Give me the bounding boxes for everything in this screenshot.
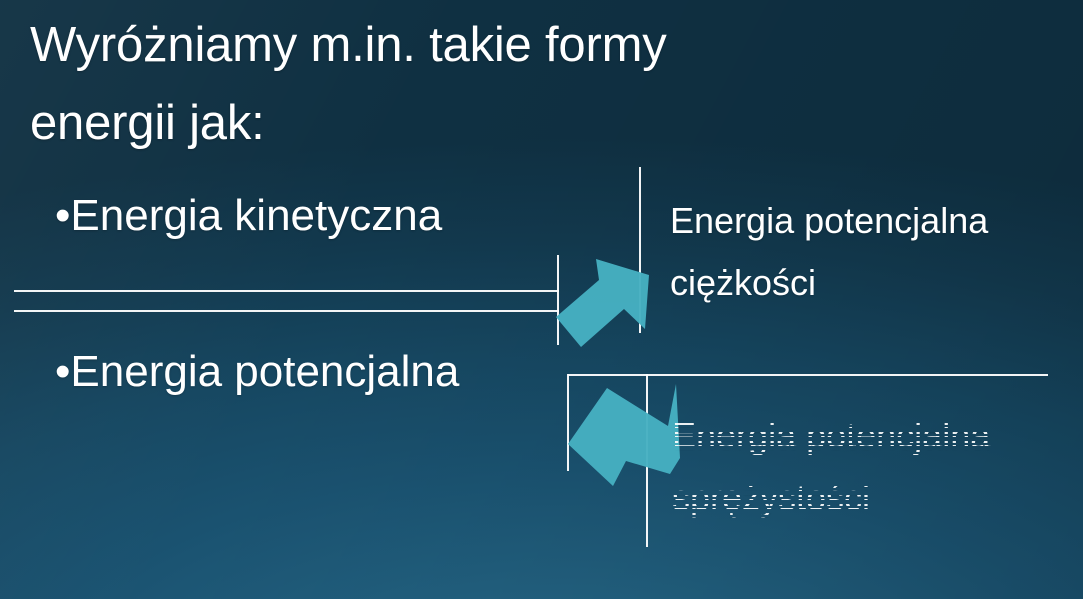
connector-line-horizontal-second (14, 310, 559, 312)
connector-line-horizontal-lower (568, 374, 1048, 376)
bent-arrow-down-right-icon (560, 382, 685, 492)
slide-canvas: Wyróżniamy m.in. takie formy energii jak… (0, 0, 1083, 599)
bullet-label: Energia potencjalna (70, 347, 459, 396)
page-title: Wyróżniamy m.in. takie formy energii jak… (30, 6, 910, 162)
bullet-item-potencjalna: •Energia potencjalna (55, 346, 459, 398)
bullet-marker: • (55, 347, 70, 396)
bullet-label: Energia kinetyczna (70, 191, 442, 240)
callout-energia-potencjalna-ciezkosci: Energia potencjalna ciężkości (670, 190, 1080, 314)
callout-energia-potencjalna-sprezystosci: Energia potencjalna sprężystości (672, 405, 1077, 529)
bullet-item-kinetyczna: •Energia kinetyczna (55, 190, 442, 242)
connector-line-horizontal-top (14, 290, 559, 292)
bent-arrow-up-right-icon (552, 247, 672, 355)
bullet-marker: • (55, 191, 70, 240)
